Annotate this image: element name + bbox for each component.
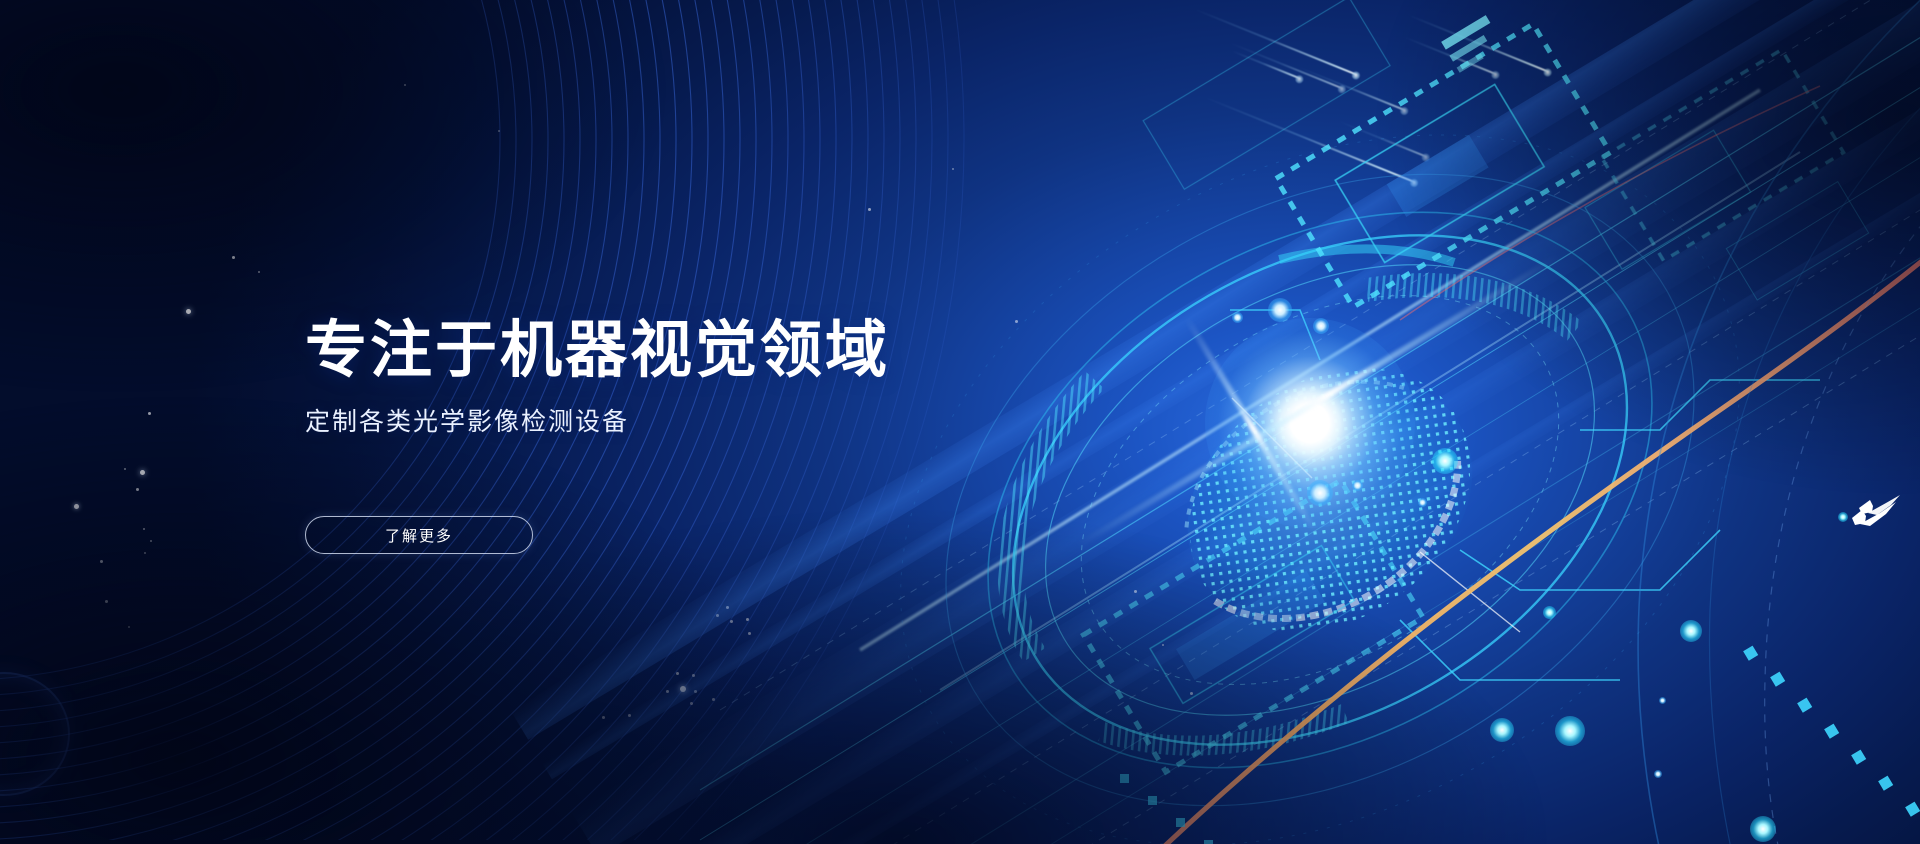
double-chevron-swoosh-logo <box>1846 492 1906 536</box>
glowing-core <box>1205 318 1415 528</box>
core-lens-flare-horizontal <box>1076 254 1559 548</box>
hero-subtitle: 定制各类光学影像检测设备 <box>305 406 1065 439</box>
decor-circle-outline <box>0 672 70 796</box>
page-title: 专注于机器视觉领域 <box>305 318 1065 384</box>
core-lens-flare-vertical <box>1184 316 1318 533</box>
learn-more-button[interactable]: 了解更多 <box>305 516 533 554</box>
hero-banner: 专注于机器视觉领域 定制各类光学影像检测设备 了解更多 <box>0 0 1920 844</box>
hero-copy: 专注于机器视觉领域 定制各类光学影像检测设备 了解更多 <box>305 318 1065 554</box>
